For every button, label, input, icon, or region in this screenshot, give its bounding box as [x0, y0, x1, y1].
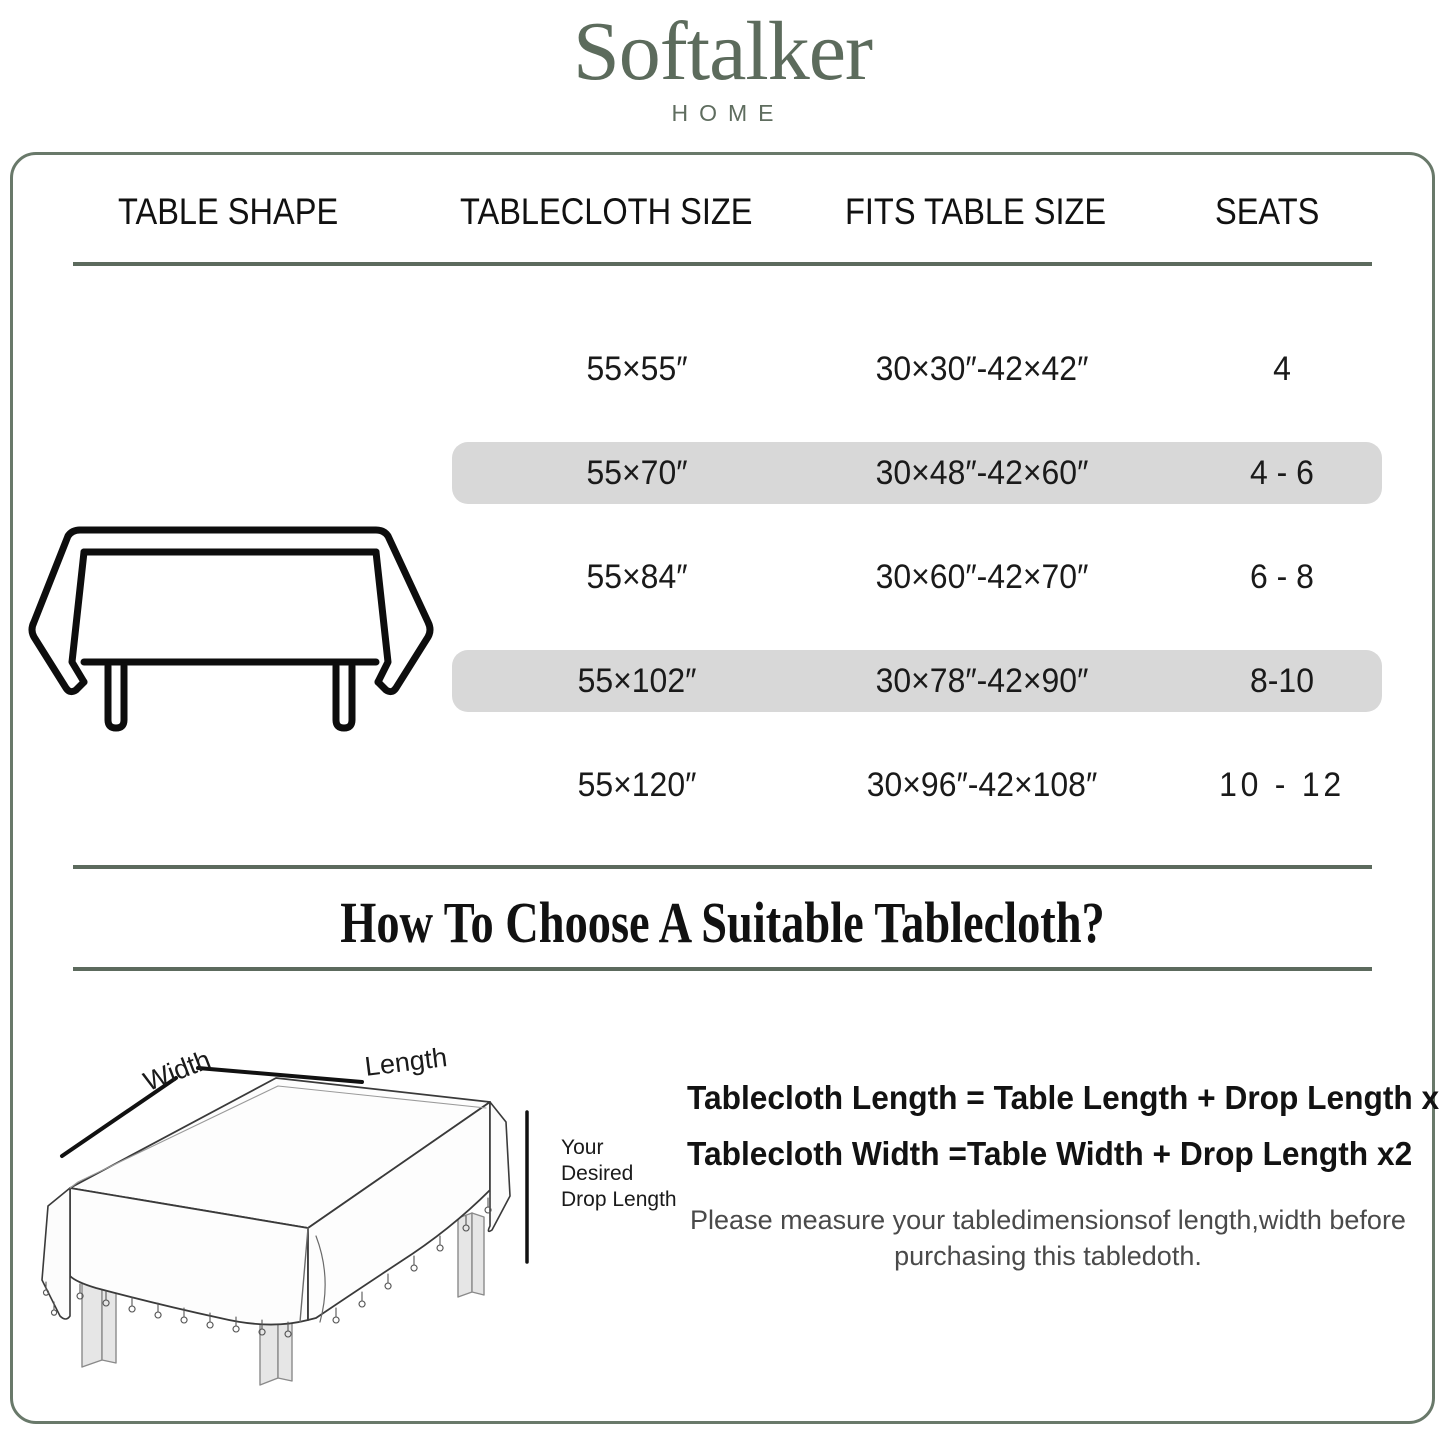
tablecloth-drop-diagram: [20, 1030, 680, 1400]
column-header-tablecloth-size: TABLECLOTH SIZE: [460, 190, 753, 234]
formula-width: Tablecloth Width =Table Width + Drop Len…: [687, 1126, 1409, 1182]
header-divider: [73, 262, 1372, 266]
cell-tablecloth-size: 55×70″: [501, 442, 774, 504]
formula-length: Tablecloth Length = Table Length + Drop …: [687, 1070, 1409, 1126]
cell-fits-table-size: 30×60″-42×70″: [794, 546, 1170, 608]
measurement-note: Please measure your tabledimensionsof le…: [672, 1202, 1424, 1274]
cell-tablecloth-size: 55×120″: [501, 754, 774, 816]
table-row: 55×120″ 30×96″-42×108″ 10 - 12: [452, 754, 1382, 816]
cell-tablecloth-size: 55×102″: [501, 650, 774, 712]
section-divider-top: [73, 865, 1372, 869]
cell-fits-table-size: 30×30″-42×42″: [794, 338, 1170, 400]
column-header-fits-table-size: FITS TABLE SIZE: [845, 190, 1106, 234]
cell-seats: 4 - 6: [1188, 442, 1376, 504]
table-row: 55×55″ 30×30″-42×42″ 4: [452, 338, 1382, 400]
cell-fits-table-size: 30×96″-42×108″: [794, 754, 1170, 816]
cell-seats: 6 - 8: [1188, 546, 1376, 608]
cell-seats: 8-10: [1188, 650, 1376, 712]
section-divider-bottom: [73, 967, 1372, 971]
brand-logo: Softalker HOME: [0, 6, 1445, 128]
section-title: How To Choose A Suitable Tablecloth?: [145, 888, 1301, 958]
column-header-seats: SEATS: [1215, 190, 1319, 234]
size-table-body: 55×55″ 30×30″-42×42″ 4 55×70″ 30×48″-42×…: [0, 330, 1445, 840]
cell-tablecloth-size: 55×55″: [501, 338, 774, 400]
cell-seats: 4: [1188, 338, 1376, 400]
cell-fits-table-size: 30×48″-42×60″: [794, 442, 1170, 504]
cell-seats: 10 - 12: [1188, 754, 1376, 816]
table-header-row: TABLE SHAPE TABLECLOTH SIZE FITS TABLE S…: [0, 178, 1445, 238]
cell-tablecloth-size: 55×84″: [501, 546, 774, 608]
brand-name: Softalker: [0, 6, 1445, 98]
infographic-page: Softalker HOME TABLE SHAPE TABLECLOTH SI…: [0, 0, 1445, 1433]
table-row: 55×70″ 30×48″-42×60″ 4 - 6: [452, 442, 1382, 504]
cell-fits-table-size: 30×78″-42×90″: [794, 650, 1170, 712]
formula-block: Tablecloth Length = Table Length + Drop …: [672, 1070, 1424, 1182]
column-header-table-shape: TABLE SHAPE: [118, 190, 338, 234]
brand-tagline: HOME: [0, 98, 1445, 128]
diagram-label-drop-length: Your Desired Drop Length: [561, 1135, 681, 1213]
table-row: 55×84″ 30×60″-42×70″ 6 - 8: [452, 546, 1382, 608]
table-row: 55×102″ 30×78″-42×90″ 8-10: [452, 650, 1382, 712]
